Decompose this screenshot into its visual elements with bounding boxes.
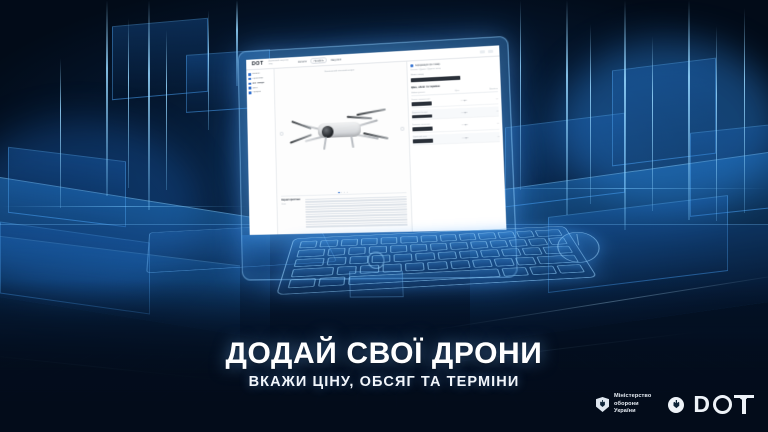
key (458, 250, 478, 258)
wireless-mouse[interactable] (556, 231, 603, 264)
gallery-dot[interactable] (338, 192, 340, 194)
page-title: ДОДАЙ СВОЇ ДРОНИ (0, 337, 768, 371)
dot-letter-t-notch (739, 395, 748, 400)
key (430, 243, 448, 251)
dot-trident-badge-icon (668, 397, 684, 413)
topnav-pill-profile[interactable]: Профіль (311, 57, 327, 64)
key (360, 238, 377, 246)
key (340, 239, 358, 247)
dot-marketplace-app: DOT Державний оператор тилу Каталог Проф… (246, 45, 506, 235)
drone-gimbal-camera (322, 125, 334, 137)
sidebar-item-offers[interactable]: Пропозиції (248, 77, 271, 81)
sidebar-bullet-icon (249, 92, 251, 95)
light-beam (208, 10, 209, 130)
key (296, 249, 325, 258)
key (489, 240, 508, 248)
product-name-input[interactable] (411, 76, 461, 83)
mouse-body (556, 231, 603, 264)
sidebar-label: Звіти (252, 87, 257, 89)
sidebar-bullet-icon (249, 87, 251, 90)
key (450, 242, 469, 250)
key (494, 258, 516, 267)
column-name: Найменування (411, 91, 425, 94)
light-beam (716, 26, 717, 221)
key (478, 232, 497, 239)
key-arrow (556, 264, 585, 273)
sidebar-label: Мої товари (252, 82, 264, 85)
key-shift (291, 267, 334, 277)
key (450, 260, 471, 269)
row-name-cell: Додаткові батареї (412, 111, 432, 119)
key (381, 237, 398, 245)
promo-banner: DOT Державний оператор тилу Каталог Проф… (0, 0, 768, 432)
chevron-left-icon[interactable] (280, 131, 284, 135)
app-topnav: Каталог Профіль Закупівлі (298, 56, 341, 64)
description-text-block (305, 195, 408, 231)
horizon-line (480, 188, 768, 189)
form-section-label: Інформація про товар (415, 63, 440, 67)
ministry-of-defence-logo: Міністерство оборони України (596, 393, 651, 415)
key-arrow (529, 266, 557, 275)
drone-propeller (356, 108, 385, 115)
row-label: Сервісний пакет (413, 136, 433, 139)
app-brand-logo[interactable]: DOT (252, 61, 264, 67)
text-line (305, 196, 407, 200)
key (459, 233, 477, 240)
table-header: Найменування Ціна Кількість (411, 88, 498, 96)
row-price: — грн (461, 112, 467, 114)
light-beam (148, 0, 150, 210)
row-name-cell: Комплект запчастин (412, 123, 432, 130)
row-price: — грн (462, 124, 468, 126)
key (497, 231, 516, 238)
key (420, 235, 438, 242)
dot-letter-o (713, 395, 732, 414)
column-price: Ціна (455, 90, 459, 92)
sidebar-item-my-products[interactable]: Мої товари (248, 81, 272, 85)
row-label: Додаткові батареї (412, 111, 432, 114)
drone-leg (350, 135, 354, 147)
key (382, 264, 402, 273)
sidebar-label: Каталог (252, 73, 260, 75)
sidebar-item-catalog[interactable]: Каталог (248, 72, 271, 76)
app-sidebar: Каталог Пропозиції Мої товари Звіти (246, 69, 278, 235)
app-body: Каталог Пропозиції Мої товари Звіти (246, 56, 506, 234)
description-heading-group: Характеристики Опис (281, 198, 301, 231)
logo-row: Міністерство оборони України D (596, 393, 754, 416)
light-beam (744, 8, 745, 213)
key (437, 251, 457, 259)
key (394, 253, 413, 261)
page-subtitle: ВКАЖИ ЦІНУ, ОБСЯГ ТА ТЕРМІНИ (0, 374, 768, 390)
light-beam (566, 0, 568, 215)
key (390, 245, 408, 253)
gallery-dot[interactable] (346, 191, 348, 193)
light-beam (688, 0, 690, 220)
drone-leg (323, 136, 326, 149)
sidebar-bullet-icon (248, 82, 250, 85)
drone-propeller (291, 120, 311, 129)
sidebar-label: Профіль (253, 91, 262, 93)
light-beam (166, 30, 167, 190)
product-form-panel: Інформація про товар Каталог / Дрони / Д… (406, 56, 506, 231)
monitor-screen: DOT Державний оператор тилу Каталог Проф… (246, 45, 506, 235)
price-table-title: Ціна, обсяг та терміни (411, 82, 498, 89)
shield-trident-icon (596, 397, 609, 412)
key (528, 238, 548, 246)
key (405, 262, 425, 271)
row-price: — грн (462, 137, 468, 139)
row-value-input[interactable] (412, 126, 432, 130)
product-description: Характеристики Опис (281, 192, 408, 231)
key (327, 257, 347, 266)
breadcrumb: Каталог / Дрони / Додати товар (410, 65, 496, 72)
topnav-item-catalog[interactable]: Каталог (298, 60, 307, 63)
key (299, 241, 318, 249)
row-label: Комплект запчастин (412, 123, 432, 126)
row-label: Базова комплектація (411, 99, 431, 102)
light-beam (590, 24, 591, 204)
key (359, 265, 379, 274)
key (515, 257, 537, 266)
light-beam (520, 0, 521, 190)
gallery-caption: Безпілотний літальний апарат (325, 69, 355, 73)
field-label-name: Назва товару (411, 70, 497, 77)
key (336, 266, 357, 275)
key (294, 258, 325, 267)
light-beam (106, 0, 108, 196)
gallery-dot[interactable] (341, 191, 343, 193)
key (509, 239, 529, 247)
city-block-4 (505, 113, 625, 208)
chevron-right-icon[interactable] (400, 126, 404, 130)
ministry-line-1: Міністерство (614, 393, 651, 400)
row-value-input[interactable] (413, 139, 433, 143)
sidebar-label: Пропозиції (252, 77, 263, 80)
ministry-line-3: України (614, 408, 651, 415)
sidebar-bullet-icon (248, 78, 250, 81)
key (349, 256, 368, 265)
key (479, 249, 500, 257)
sidebar-bullet-icon (248, 73, 250, 76)
dot-logo: D (668, 393, 754, 416)
dot-wordmark: D (693, 393, 754, 416)
key (501, 248, 522, 256)
key (372, 255, 391, 264)
table-row[interactable]: Базова комплектація — грн — (411, 94, 498, 108)
key (400, 236, 417, 243)
gallery-dots[interactable] (338, 191, 348, 193)
key (472, 259, 493, 268)
sidebar-item-reports[interactable]: Звіти (249, 86, 273, 90)
key (427, 261, 447, 270)
product-gallery-column: Безпілотний літальний апарат (274, 62, 411, 235)
app-brand-subtitle: Державний оператор тилу (268, 60, 288, 66)
quadcopter-drone-photo (287, 104, 397, 158)
product-gallery: Безпілотний літальний апарат (278, 65, 406, 196)
description-title: Характеристики (281, 198, 300, 201)
key (516, 231, 535, 238)
row-price: — грн (461, 99, 467, 101)
drone-propeller (347, 115, 373, 118)
description-subtitle: Опис (281, 203, 286, 205)
dot-letter-t (734, 395, 754, 414)
key (470, 241, 489, 249)
gallery-dot[interactable] (344, 191, 346, 193)
table-row[interactable]: Комплект запчастин — грн — (412, 119, 499, 133)
key (439, 234, 457, 241)
monitor: DOT Державний оператор тилу Каталог Проф… (246, 45, 506, 235)
table-row[interactable]: Сервісний пакет — грн — (413, 132, 500, 145)
dot-letter-d: D (693, 393, 711, 416)
key (369, 246, 387, 254)
light-beam (624, 0, 626, 230)
horizon-line (0, 206, 250, 207)
key (521, 247, 542, 255)
topnav-item-purchases[interactable]: Закупівлі (331, 58, 342, 62)
light-beam (652, 36, 653, 211)
light-beam (128, 18, 129, 188)
light-beam (60, 58, 61, 208)
table-row[interactable]: Додаткові батареї — грн — (412, 107, 499, 121)
key-alt (502, 267, 530, 277)
key (320, 240, 338, 248)
ministry-logo-text: Міністерство оборони України (614, 393, 651, 415)
ministry-line-2: оборони (614, 401, 651, 408)
key (327, 248, 346, 256)
key (410, 244, 428, 252)
row-value-input[interactable] (412, 114, 432, 118)
sidebar-item-profile[interactable]: Профіль (249, 90, 273, 94)
row-name-cell: Сервісний пакет (413, 136, 433, 143)
key (416, 252, 435, 260)
key (348, 247, 366, 255)
